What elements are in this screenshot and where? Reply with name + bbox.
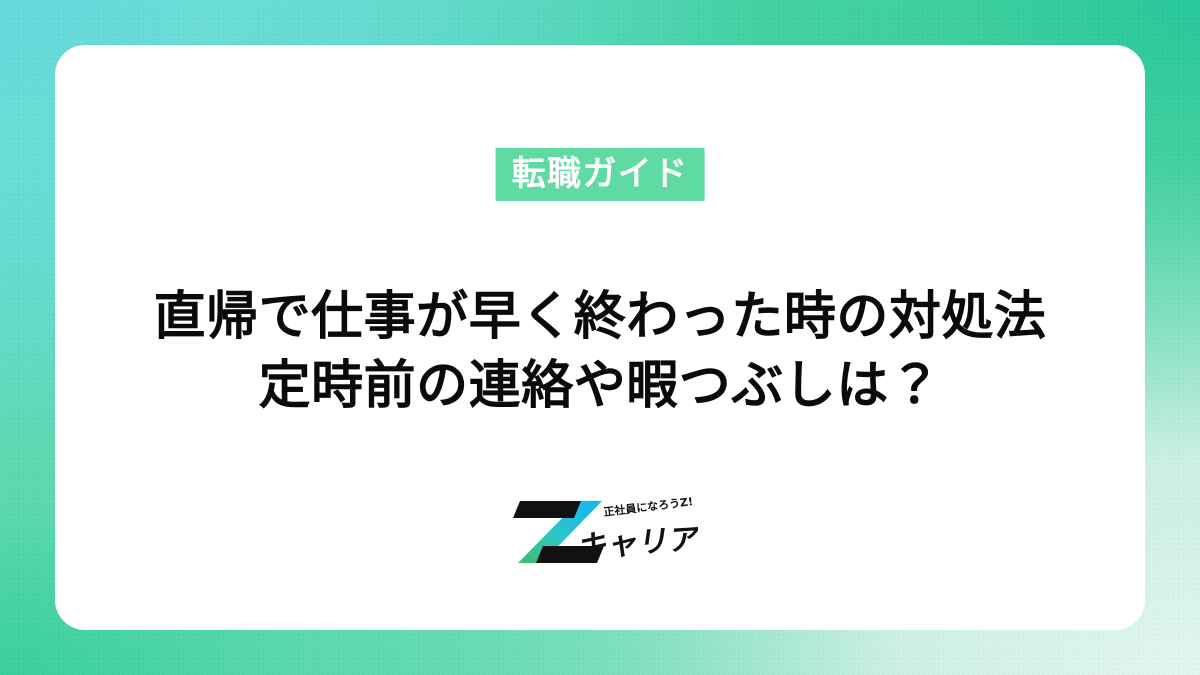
page-title: 直帰で仕事が早く終わった時の対処法 定時前の連絡や暇つぶしは？ [55,283,1145,420]
title-line-1: 直帰で仕事が早く終わった時の対処法 [55,283,1145,352]
title-line-2: 定時前の連絡や暇つぶしは？ [55,352,1145,421]
logo-wordmark: キャリア [576,522,698,565]
ogp-canvas: 転職ガイド 直帰で仕事が早く終わった時の対処法 定時前の連絡や暇つぶしは？ [0,0,1200,675]
z-career-logo-svg: 正社員になろうZ! キャリア [502,495,698,569]
brand-logo: 正社員になろうZ! キャリア [502,495,698,569]
category-badge: 転職ガイド [496,148,705,201]
content-card: 転職ガイド 直帰で仕事が早く終わった時の対処法 定時前の連絡や暇つぶしは？ [55,45,1145,630]
logo-tagline: 正社員になろうZ! [603,495,694,519]
